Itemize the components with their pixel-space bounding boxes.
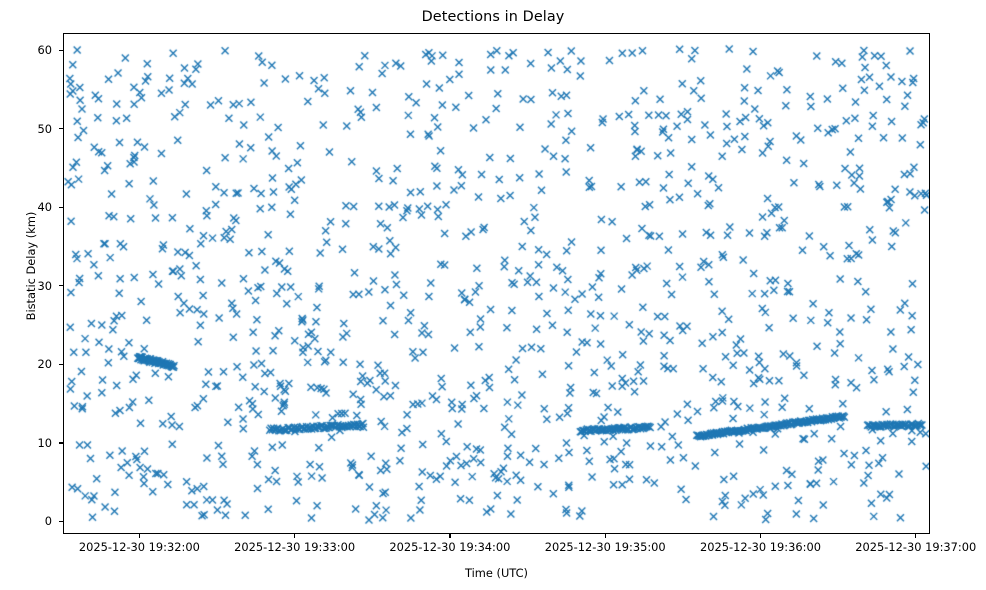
y-tick-label: 30 <box>0 279 52 293</box>
y-tick-label: 40 <box>0 200 52 214</box>
x-tick-mark <box>449 534 450 538</box>
x-tick-label: 2025-12-30 19:34:00 <box>389 540 510 554</box>
scatter-plot-canvas <box>64 34 930 534</box>
x-tick-mark <box>294 534 295 538</box>
x-tick-label: 2025-12-30 19:33:00 <box>234 540 355 554</box>
y-tick-label: 50 <box>0 122 52 136</box>
y-tick-label: 60 <box>0 43 52 57</box>
x-tick-mark <box>760 534 761 538</box>
y-tick-mark <box>59 285 63 286</box>
y-tick-label: 0 <box>0 514 52 528</box>
y-tick-mark <box>59 442 63 443</box>
plot-area <box>63 33 930 534</box>
x-tick-label: 2025-12-30 19:37:00 <box>855 540 976 554</box>
x-tick-mark <box>139 534 140 538</box>
y-tick-label: 20 <box>0 357 52 371</box>
x-tick-label: 2025-12-30 19:32:00 <box>79 540 200 554</box>
y-tick-mark <box>59 364 63 365</box>
x-tick-mark <box>915 534 916 538</box>
chart-figure: Detections in Delay Time (UTC) Bistatic … <box>0 0 986 590</box>
x-tick-mark <box>605 534 606 538</box>
y-tick-mark <box>59 128 63 129</box>
y-tick-mark <box>59 50 63 51</box>
y-tick-label: 10 <box>0 436 52 450</box>
page-title: Detections in Delay <box>0 9 986 25</box>
y-tick-mark <box>59 521 63 522</box>
x-axis-label: Time (UTC) <box>63 566 930 580</box>
y-tick-mark <box>59 207 63 208</box>
x-tick-label: 2025-12-30 19:35:00 <box>545 540 666 554</box>
x-tick-label: 2025-12-30 19:36:00 <box>700 540 821 554</box>
